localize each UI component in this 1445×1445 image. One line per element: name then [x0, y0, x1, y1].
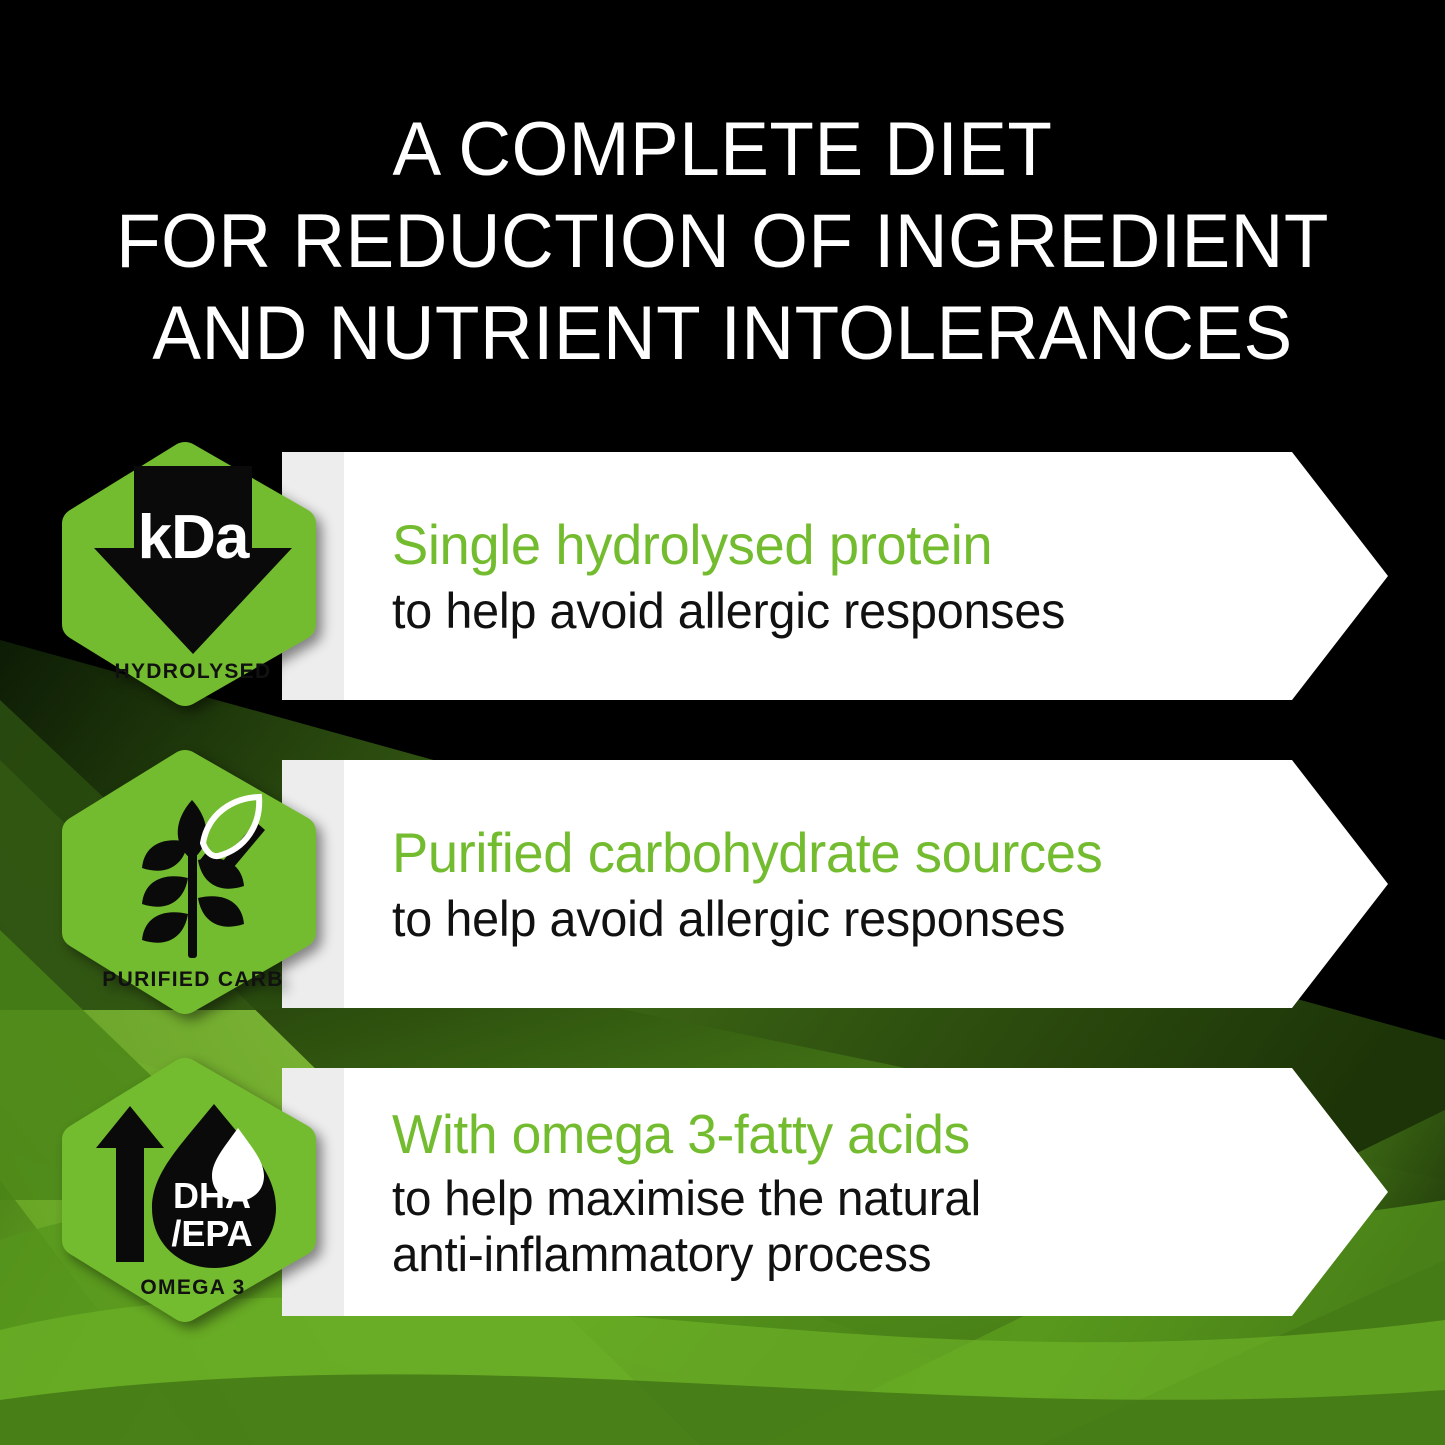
- svg-text:/EPA: /EPA: [171, 1213, 252, 1254]
- feature-subtitle: to help maximise the natural anti-inflam…: [392, 1171, 1294, 1283]
- feature-title: With omega 3-fatty acids: [392, 1101, 1294, 1167]
- badge-label: HYDROLYSED: [62, 660, 324, 684]
- feature-banner: Purified carbohydrate sources to help av…: [282, 760, 1388, 1008]
- badge-label: OMEGA 3: [62, 1276, 324, 1300]
- banner-text-block: Purified carbohydrate sources to help av…: [392, 760, 1322, 1008]
- svg-text:DHA: DHA: [173, 1175, 251, 1216]
- feature-row: With omega 3-fatty acids to help maximis…: [0, 1056, 1445, 1334]
- feature-subtitle: to help avoid allergic responses: [392, 890, 1294, 948]
- banner-text-block: With omega 3-fatty acids to help maximis…: [392, 1068, 1322, 1316]
- feature-title: Single hydrolysed protein: [392, 512, 1294, 578]
- feature-row: Purified carbohydrate sources to help av…: [0, 748, 1445, 1020]
- badge-purified-carb: PURIFIED CARB: [62, 748, 324, 1016]
- svg-text:kDa: kDa: [138, 503, 250, 572]
- feature-title: Purified carbohydrate sources: [392, 820, 1294, 886]
- gold-rule-top: [255, 58, 1190, 65]
- feature-subtitle: to help avoid allergic responses: [392, 582, 1294, 640]
- feature-banner: With omega 3-fatty acids to help maximis…: [282, 1068, 1388, 1316]
- gold-rule-bottom: [255, 1383, 1190, 1390]
- badge-label: PURIFIED CARB: [62, 968, 324, 992]
- page-title: A COMPLETE DIET FOR REDUCTION OF INGREDI…: [29, 104, 1416, 380]
- feature-banner: Single hydrolysed protein to help avoid …: [282, 452, 1388, 700]
- feature-row: Single hydrolysed protein to help avoid …: [0, 440, 1445, 710]
- badge-omega3: DHA /EPA OMEGA 3: [62, 1056, 324, 1324]
- badge-hydrolysed: kDa HYDROLYSED: [62, 440, 324, 708]
- banner-text-block: Single hydrolysed protein to help avoid …: [392, 452, 1322, 700]
- poster-root: A COMPLETE DIET FOR REDUCTION OF INGREDI…: [0, 0, 1445, 1445]
